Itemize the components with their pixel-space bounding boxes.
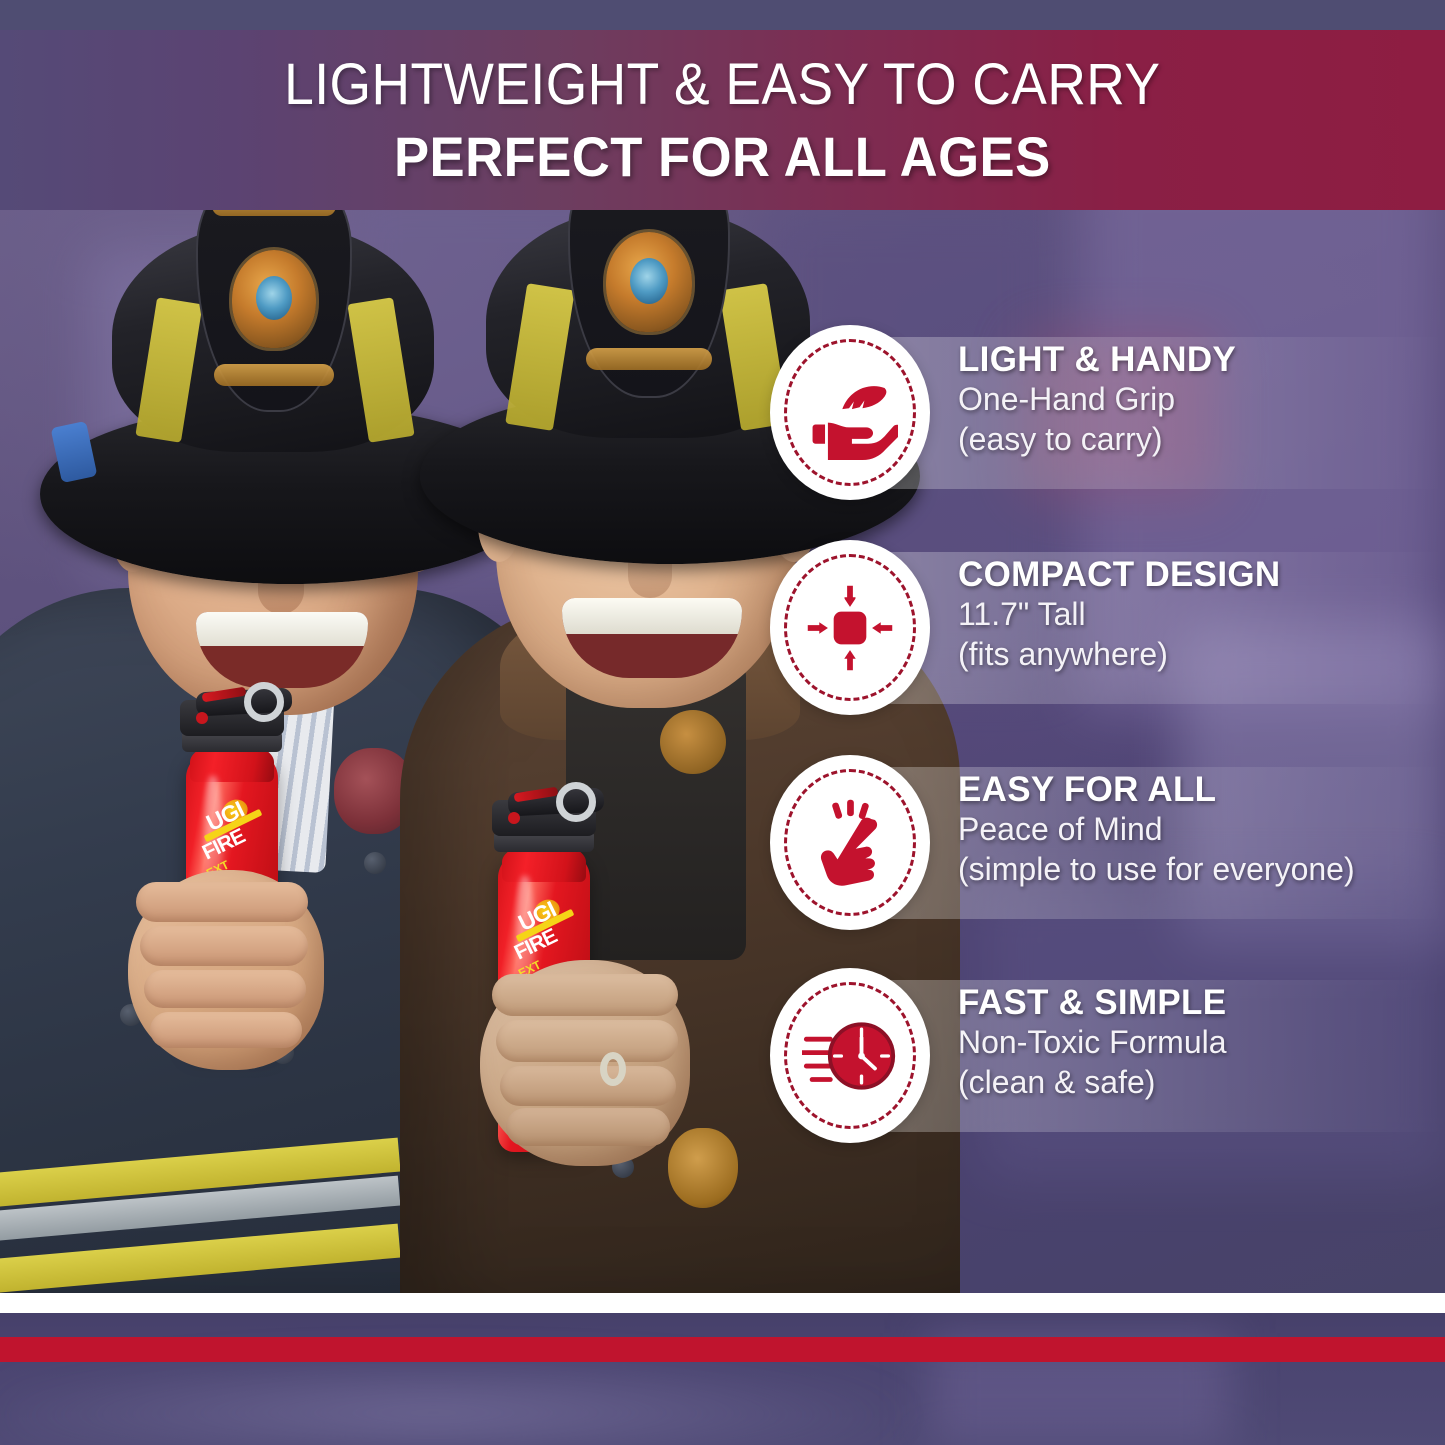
- compress-arrows-icon: [802, 580, 898, 676]
- feature-compact-design[interactable]: COMPACT DESIGN 11.7" Tall (fits anywhere…: [762, 540, 1445, 715]
- header-subheadline: PERFECT FOR ALL AGES: [394, 124, 1051, 189]
- white-divider: [0, 1293, 1445, 1313]
- footer-bar: [0, 1313, 1445, 1445]
- feature-detail: (easy to carry): [958, 419, 1445, 459]
- fast-clock-icon: [802, 1008, 898, 1104]
- feature-title: COMPACT DESIGN: [958, 556, 1445, 594]
- feature-title: FAST & SIMPLE: [958, 984, 1445, 1022]
- feature-icon-badge: [770, 540, 930, 715]
- feature-icon-badge: [770, 968, 930, 1143]
- feature-subtitle: Peace of Mind: [958, 809, 1445, 849]
- feature-detail: (clean & safe): [958, 1062, 1445, 1102]
- top-strip: [0, 0, 1445, 30]
- feature-text: LIGHT & HANDY One-Hand Grip (easy to car…: [958, 341, 1445, 459]
- header-banner: LIGHTWEIGHT & EASY TO CARRY PERFECT FOR …: [0, 30, 1445, 210]
- feature-text: EASY FOR ALL Peace of Mind (simple to us…: [958, 771, 1445, 889]
- feature-title: LIGHT & HANDY: [958, 341, 1445, 379]
- feature-icon-badge: [770, 755, 930, 930]
- infographic-canvas: UGI FIRE EXT J620 KOLL BASED FOGGER 136: [0, 0, 1445, 1445]
- feature-light-and-handy[interactable]: LIGHT & HANDY One-Hand Grip (easy to car…: [762, 325, 1445, 500]
- feature-subtitle: Non-Toxic Formula: [958, 1022, 1445, 1062]
- feature-subtitle: One-Hand Grip: [958, 379, 1445, 419]
- feature-title: EASY FOR ALL: [958, 771, 1445, 809]
- feature-detail: (simple to use for everyone): [958, 849, 1445, 889]
- feature-text: FAST & SIMPLE Non-Toxic Formula (clean &…: [958, 984, 1445, 1102]
- footer-accent-bar: [0, 1337, 1445, 1362]
- header-headline: LIGHTWEIGHT & EASY TO CARRY: [284, 51, 1160, 118]
- feature-fast-and-simple[interactable]: FAST & SIMPLE Non-Toxic Formula (clean &…: [762, 968, 1445, 1143]
- feature-easy-for-all[interactable]: EASY FOR ALL Peace of Mind (simple to us…: [762, 755, 1445, 930]
- pointing-hand-tap-icon: [802, 795, 898, 891]
- feature-detail: (fits anywhere): [958, 634, 1445, 674]
- feature-text: COMPACT DESIGN 11.7" Tall (fits anywhere…: [958, 556, 1445, 674]
- feature-icon-badge: [770, 325, 930, 500]
- hand-holding-feather-icon: [802, 365, 898, 461]
- feature-subtitle: 11.7" Tall: [958, 594, 1445, 634]
